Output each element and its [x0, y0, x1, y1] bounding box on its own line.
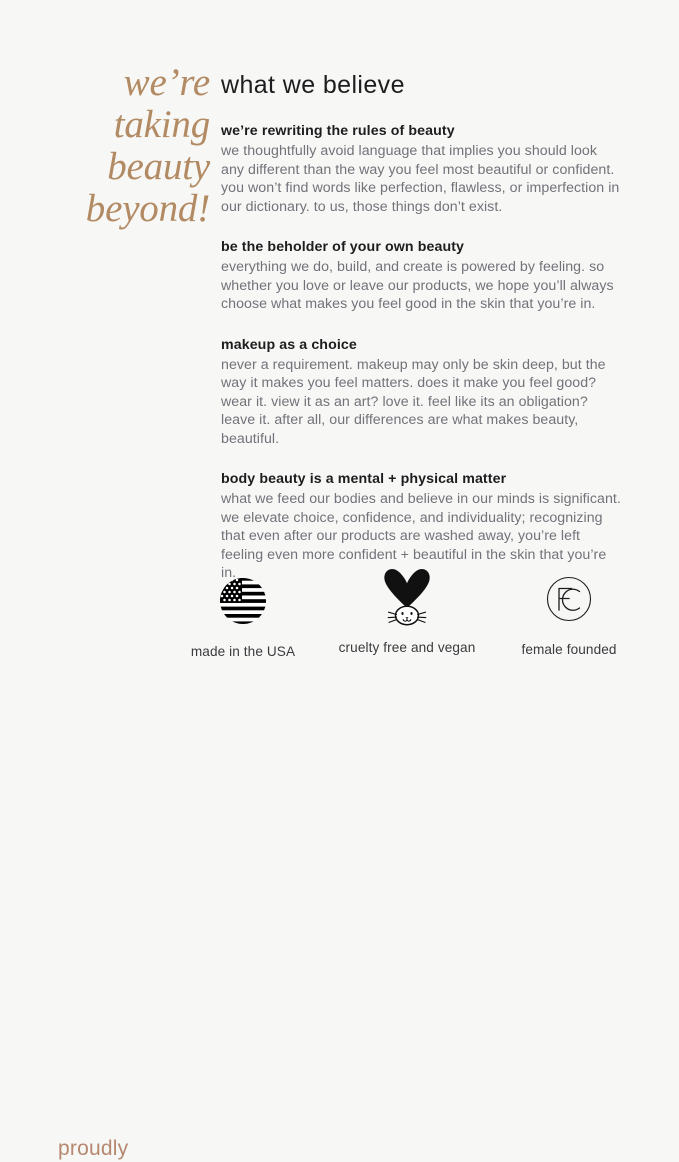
- page-title: what we believe: [221, 70, 621, 100]
- belief-block-1: we’re rewriting the rules of beauty we t…: [221, 122, 621, 216]
- belief-body: everything we do, build, and create is p…: [221, 258, 621, 314]
- headline-line-4: beyond!: [60, 188, 210, 230]
- belief-block-2: be the beholder of your own beauty every…: [221, 238, 621, 314]
- badge-label: made in the USA: [158, 644, 328, 659]
- badge-label: female founded: [484, 642, 654, 657]
- brand-headline: we’re taking beauty beyond!: [60, 62, 210, 230]
- headline-line-3: beauty: [60, 146, 210, 188]
- badge-female-founded: female founded: [484, 568, 654, 657]
- badge-label: cruelty free and vegan: [322, 640, 492, 655]
- cruelty-free-bunny-icon: [322, 566, 492, 628]
- headline-line-1: we’re: [60, 62, 210, 104]
- usa-flag-circle-icon: [158, 570, 328, 632]
- belief-title: makeup as a choice: [221, 336, 621, 355]
- belief-title: body beauty is a mental + physical matte…: [221, 470, 621, 489]
- proudly-label: proudly: [58, 1136, 128, 1162]
- belief-body: never a requirement. makeup may only be …: [221, 356, 621, 449]
- belief-block-3: makeup as a choice never a requirement. …: [221, 336, 621, 449]
- beliefs-content: what we believe we’re rewriting the rule…: [221, 70, 621, 583]
- headline-line-2: taking: [60, 104, 210, 146]
- badge-cruelty-free: cruelty free and vegan: [322, 566, 492, 655]
- belief-title: we’re rewriting the rules of beauty: [221, 122, 621, 141]
- badge-made-in-usa: made in the USA: [158, 570, 328, 659]
- belief-title: be the beholder of your own beauty: [221, 238, 621, 257]
- belief-page: we’re taking beauty beyond! what we beli…: [0, 0, 679, 679]
- female-founded-monogram-icon: [484, 568, 654, 630]
- badge-row: proudly: [0, 560, 679, 670]
- belief-body: we thoughtfully avoid language that impl…: [221, 142, 621, 216]
